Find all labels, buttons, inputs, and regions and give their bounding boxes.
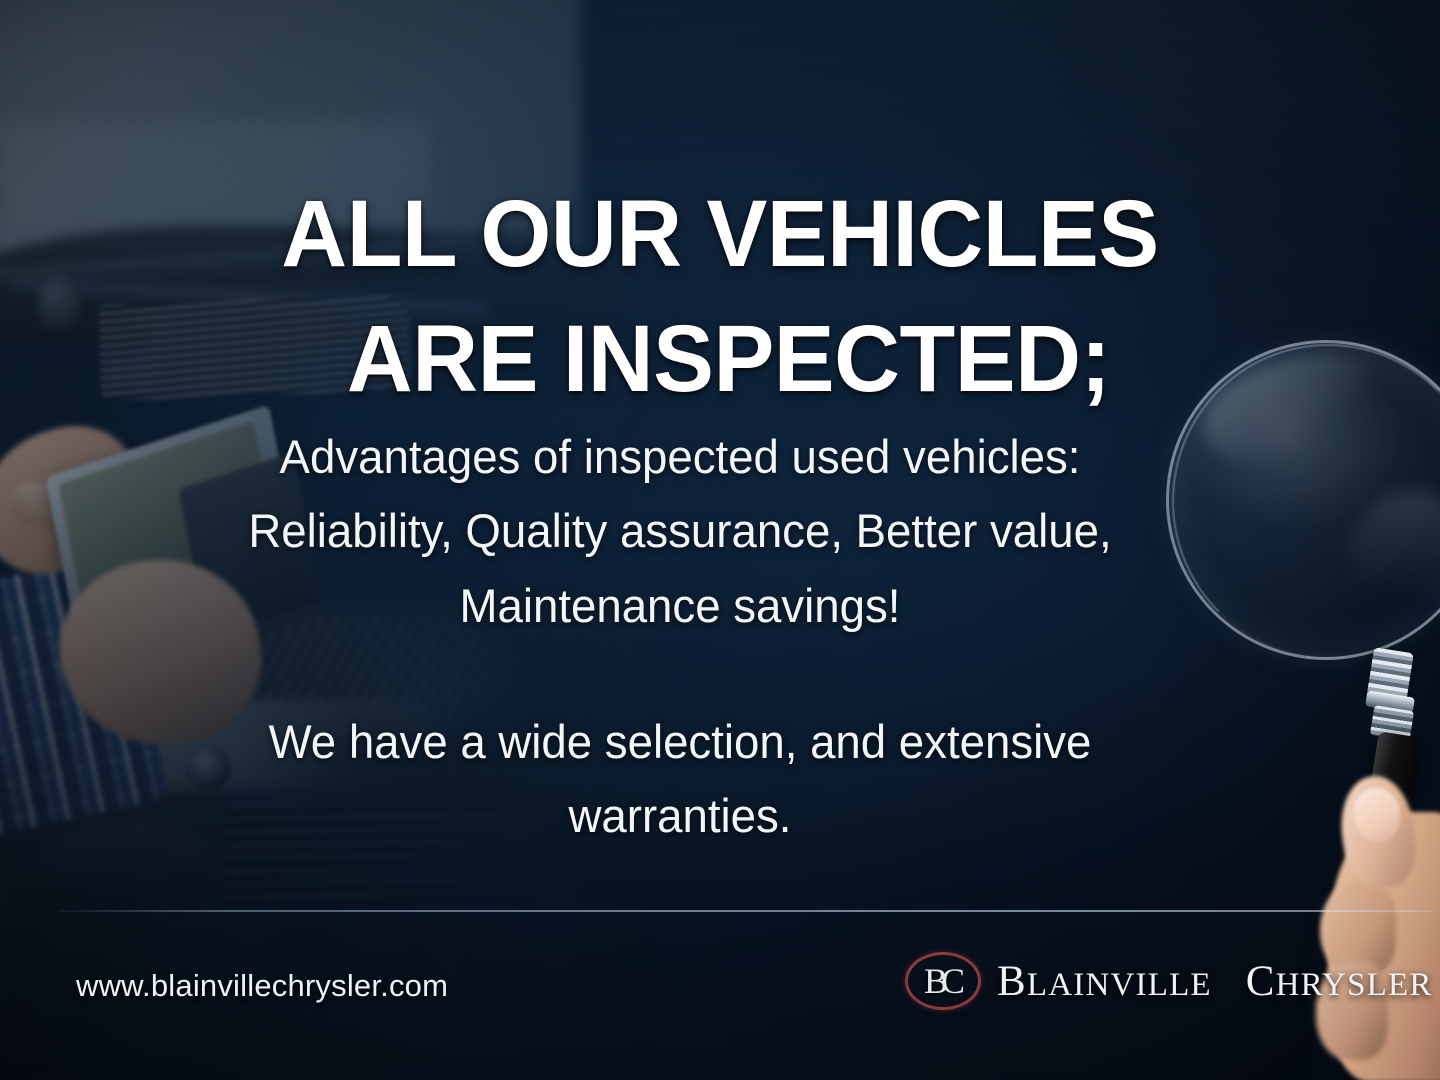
monogram-letters: BC [905,952,981,1010]
promo-slide: ALL OUR VEHICLES ARE INSPECTED; Advantag… [0,0,1440,1080]
footer-divider [58,910,1433,912]
brand-word-blainville-cap: B [997,958,1027,1005]
headline-line-1: ALL OUR VEHICLES [29,172,1411,297]
headline-line-2: ARE INSPECTED; [46,297,1411,422]
body-paragraph-selection: We have a wide selection, and extensive … [195,705,1165,854]
body-copy: Advantages of inspected used vehicles: R… [195,420,1165,853]
brand-word-blainville-rest: LAINVILLE [1027,967,1212,1003]
body-paragraph-advantages: Advantages of inspected used vehicles: R… [195,420,1165,643]
brand-word-chrysler-cap: C [1246,958,1276,1005]
brand-word-chrysler-rest: HRYSLER [1276,967,1433,1003]
brand-wordmark: BLAINVILLE CHRYSLER [997,957,1433,1006]
bc-monogram-icon: BC [905,952,981,1010]
brand-logo[interactable]: BC BLAINVILLE CHRYSLER [905,952,1433,1010]
page-title: ALL OUR VEHICLES ARE INSPECTED; [29,172,1411,423]
brand-word-chrysler: CHRYSLER [1246,958,1433,1005]
brand-word-blainville: BLAINVILLE [997,958,1212,1005]
website-url[interactable]: www.blainvillechrysler.com [76,968,448,1004]
